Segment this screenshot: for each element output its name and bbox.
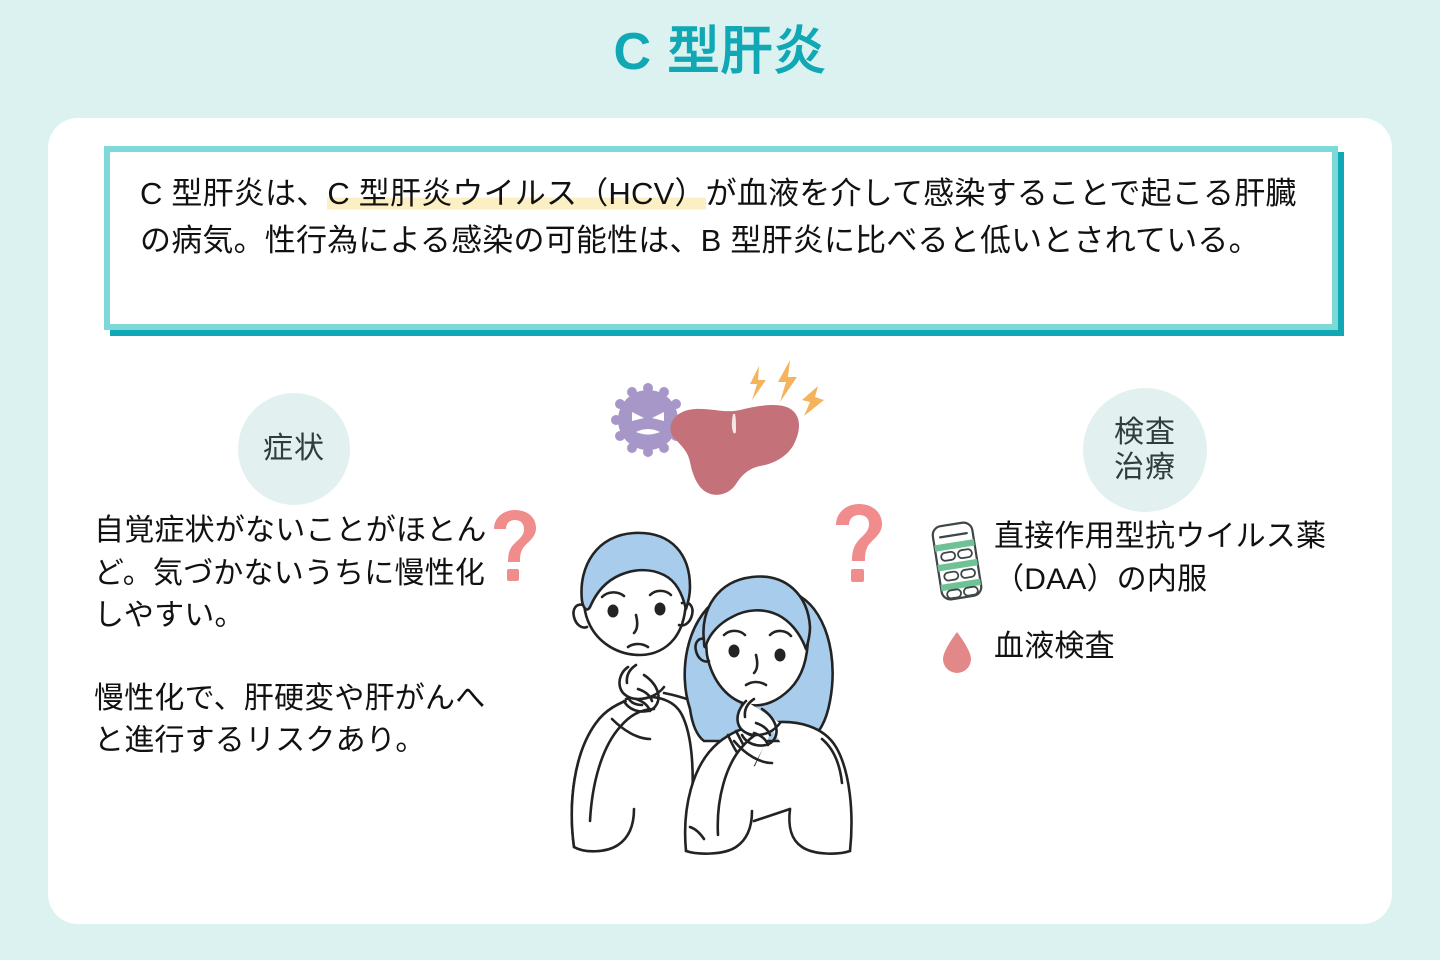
- badge-line-2: 治療: [1114, 451, 1176, 484]
- description-part1: C 型肝炎は、: [140, 176, 327, 211]
- list-item-label: 直接作用型抗ウイルス薬（DAA）の内服: [994, 516, 1340, 601]
- page-title: C 型肝炎: [0, 24, 1440, 81]
- infographic-page: C 型肝炎 C 型肝炎は、C 型肝炎ウイルス（HCV）が血液を介して感染すること…: [0, 0, 1440, 960]
- test-treatment-list: 直接作用型抗ウイルス薬（DAA）の内服 血液検査: [920, 516, 1340, 676]
- symptom-paragraph-1: 自覚症状がないことがほとんど。気づかないうちに慢性化しやすい。: [94, 510, 494, 638]
- liver-shape: [670, 405, 799, 495]
- two-people-thinking-illustration: [478, 503, 898, 853]
- question-mark-icon: [836, 504, 882, 582]
- description-highlight: C 型肝炎ウイルス（HCV）: [327, 176, 705, 211]
- badge-test-treatment-label: 検査治療: [1114, 415, 1176, 486]
- list-item-label: 血液検査: [994, 626, 1115, 669]
- badge-test-treatment: 検査治療: [1083, 388, 1207, 512]
- badge-symptom-label: 症状: [263, 431, 325, 466]
- description-box-frame: C 型肝炎は、C 型肝炎ウイルス（HCV）が血液を介して感染することで起こる肝臓…: [104, 146, 1338, 330]
- description-box: C 型肝炎は、C 型肝炎ウイルス（HCV）が血液を介して感染することで起こる肝臓…: [104, 146, 1344, 336]
- symptom-paragraph-2: 慢性化で、肝硬変や肝がんへと進行するリスクあり。: [94, 678, 494, 763]
- symptom-body: 自覚症状がないことがほとんど。気づかないうちに慢性化しやすい。 慢性化で、肝硬変…: [94, 510, 494, 763]
- badge-symptom: 症状: [238, 393, 350, 505]
- list-item: 血液検査: [920, 626, 1340, 676]
- content-card: C 型肝炎は、C 型肝炎ウイルス（HCV）が血液を介して感染することで起こる肝臓…: [48, 118, 1392, 924]
- badge-line-1: 検査: [1114, 416, 1176, 449]
- description-text: C 型肝炎は、C 型肝炎ウイルス（HCV）が血液を介して感染することで起こる肝臓…: [110, 152, 1332, 324]
- question-mark-icon: [494, 510, 536, 581]
- blood-drop-icon: [920, 626, 994, 676]
- pill-sheet-icon: [920, 516, 994, 602]
- person-female: [685, 577, 852, 854]
- liver-illustration: [596, 358, 846, 508]
- list-item: 直接作用型抗ウイルス薬（DAA）の内服: [920, 516, 1340, 602]
